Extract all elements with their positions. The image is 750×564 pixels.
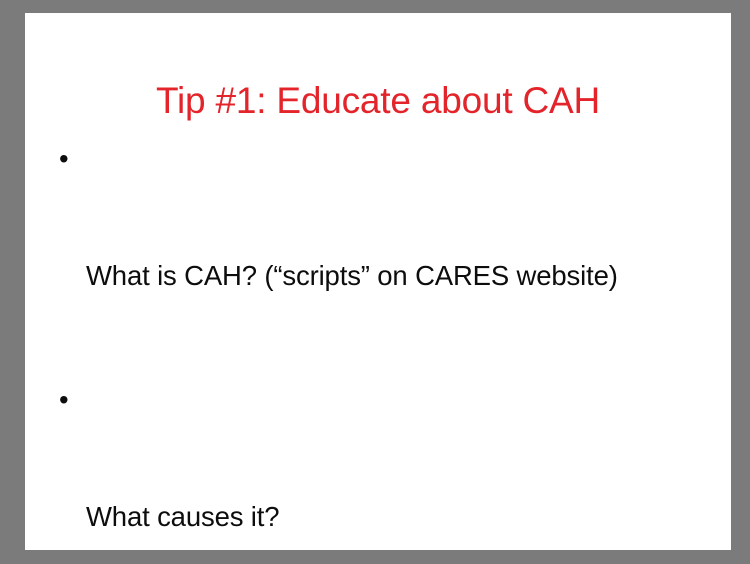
- slide-frame: Tip #1: Educate about CAH • What is CAH?…: [0, 0, 750, 564]
- list-item: • What is CAH? (“scripts” on CARES websi…: [53, 139, 703, 373]
- bullet-icon: •: [59, 380, 68, 419]
- list-item-label: What is CAH? (“scripts” on CARES website…: [86, 256, 703, 295]
- bullet-list: • What is CAH? (“scripts” on CARES websi…: [53, 139, 703, 550]
- list-item: • What causes it?: [53, 380, 703, 550]
- page-title: Tip #1: Educate about CAH: [25, 78, 731, 124]
- slide-canvas: Tip #1: Educate about CAH • What is CAH?…: [25, 13, 731, 550]
- list-item-label: What causes it?: [86, 497, 703, 536]
- bullet-icon: •: [59, 139, 68, 178]
